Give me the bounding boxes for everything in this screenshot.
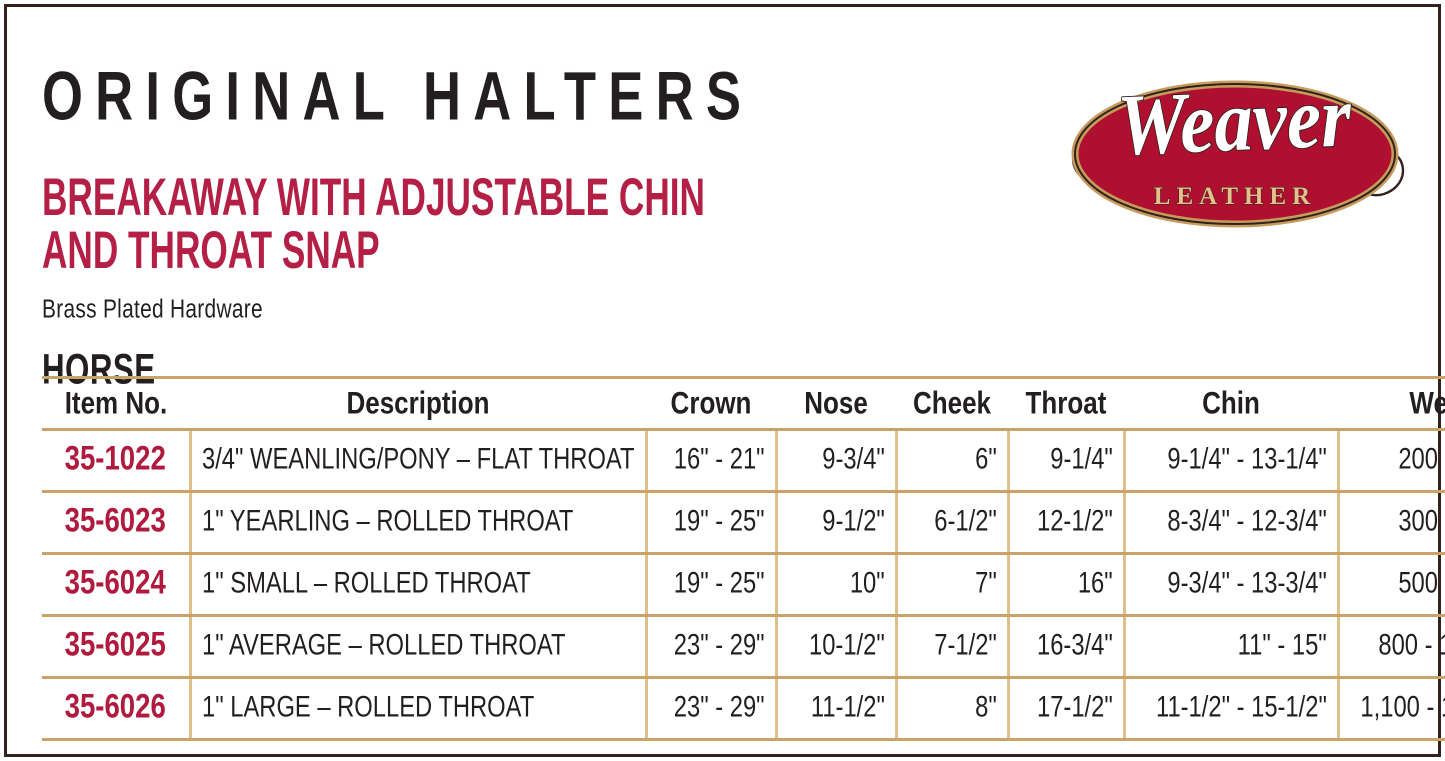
crown-text: 19" - 25": [674, 566, 765, 600]
cell-crown: 23" - 29": [646, 616, 776, 678]
cheek-text: 6-1/2": [934, 504, 997, 538]
cell-item-no: 35-6023: [42, 492, 190, 554]
page-subtitle-line-2: AND THROAT SNAP: [42, 225, 816, 277]
item-no-text: 35-6023: [65, 502, 166, 541]
column-header-description: Description: [190, 372, 646, 434]
cell-nose: 9-1/2": [776, 492, 896, 554]
chin-text: 9-3/4" - 13-3/4": [1167, 566, 1326, 600]
cell-cheek: 6": [896, 430, 1008, 492]
chin-text: 11-1/2" - 15-1/2": [1156, 690, 1327, 724]
cell-description: 3/4" WEANLING/PONY – FLAT THROAT: [190, 430, 646, 492]
description-text: 3/4" WEANLING/PONY – FLAT THROAT: [202, 442, 635, 476]
item-no-text: 35-6024: [65, 564, 166, 603]
column-header-crown: Crown: [646, 372, 776, 434]
cell-weight: 200 - 300 LBS.: [1338, 430, 1445, 492]
column-header-weight: Weight: [1338, 372, 1445, 434]
cheek-text: 8": [975, 690, 997, 724]
throat-text: 17-1/2": [1037, 690, 1113, 724]
cell-description: 1" LARGE – ROLLED THROAT: [190, 678, 646, 740]
nose-text: 9-1/2": [822, 504, 885, 538]
cell-crown: 19" - 25": [646, 554, 776, 616]
table-row: 35-6023 1" YEARLING – ROLLED THROAT 19" …: [42, 492, 1445, 554]
halter-spec-table: Item No. Description Crown Nose Cheek Th…: [42, 376, 1445, 741]
column-header-throat: Throat: [1008, 372, 1124, 434]
cell-chin: 9-3/4" - 13-3/4": [1124, 554, 1338, 616]
table-header-row: Item No. Description Crown Nose Cheek Th…: [42, 378, 1445, 430]
column-header-nose: Nose: [776, 372, 896, 434]
cell-item-no: 35-1022: [42, 430, 190, 492]
nose-text: 10": [850, 566, 885, 600]
cell-throat: 16": [1008, 554, 1124, 616]
cell-cheek: 6-1/2": [896, 492, 1008, 554]
crown-text: 19" - 25": [674, 504, 765, 538]
cell-crown: 23" - 29": [646, 678, 776, 740]
cell-nose: 9-3/4": [776, 430, 896, 492]
cell-nose: 10-1/2": [776, 616, 896, 678]
cheek-text: 7": [975, 566, 997, 600]
cell-cheek: 7": [896, 554, 1008, 616]
cell-chin: 8-3/4" - 12-3/4": [1124, 492, 1338, 554]
throat-text: 16-3/4": [1037, 628, 1113, 662]
cell-item-no: 35-6025: [42, 616, 190, 678]
cell-item-no: 35-6024: [42, 554, 190, 616]
page-subtitle: BREAKAWAY WITH ADJUSTABLE CHIN AND THROA…: [42, 173, 816, 278]
throat-text: 12-1/2": [1037, 504, 1113, 538]
column-header-cheek: Cheek: [896, 372, 1008, 434]
cell-cheek: 8": [896, 678, 1008, 740]
hardware-note: Brass Plated Hardware: [42, 294, 1339, 325]
table-row: 35-6025 1" AVERAGE – ROLLED THROAT 23" -…: [42, 616, 1445, 678]
weight-text: 500 - 800 LBS.: [1399, 566, 1445, 600]
cell-cheek: 7-1/2": [896, 616, 1008, 678]
item-no-text: 35-6026: [65, 688, 166, 727]
nose-text: 9-3/4": [822, 442, 885, 476]
cell-description: 1" AVERAGE – ROLLED THROAT: [190, 616, 646, 678]
cell-chin: 11" - 15": [1124, 616, 1338, 678]
crown-text: 16" - 21": [674, 442, 765, 476]
cell-weight: 500 - 800 LBS.: [1338, 554, 1445, 616]
cell-throat: 16-3/4": [1008, 616, 1124, 678]
column-header-chin: Chin: [1124, 372, 1338, 434]
cell-nose: 11-1/2": [776, 678, 896, 740]
cell-crown: 19" - 25": [646, 492, 776, 554]
item-no-text: 35-6025: [65, 626, 166, 665]
chin-text: 11" - 15": [1237, 628, 1326, 662]
cell-item-no: 35-6026: [42, 678, 190, 740]
cell-chin: 11-1/2" - 15-1/2": [1124, 678, 1338, 740]
cheek-text: 7-1/2": [934, 628, 997, 662]
description-text: 1" AVERAGE – ROLLED THROAT: [202, 628, 565, 662]
throat-text: 16": [1078, 566, 1113, 600]
cell-description: 1" SMALL – ROLLED THROAT: [190, 554, 646, 616]
table-body: 35-1022 3/4" WEANLING/PONY – FLAT THROAT…: [42, 430, 1445, 740]
cell-throat: 17-1/2": [1008, 678, 1124, 740]
cell-weight: 1,100 - 1,600 LBS.: [1338, 678, 1445, 740]
cell-throat: 12-1/2": [1008, 492, 1124, 554]
weaver-leather-logo: Weaver LEATHER: [1058, 70, 1413, 238]
cheek-text: 6": [975, 442, 997, 476]
nose-text: 11-1/2": [810, 690, 884, 724]
cell-description: 1" YEARLING – ROLLED THROAT: [190, 492, 646, 554]
description-text: 1" LARGE – ROLLED THROAT: [202, 690, 534, 724]
cell-weight: 300 - 500 LBS.: [1338, 492, 1445, 554]
logo-tagline-text: LEATHER: [1154, 183, 1316, 210]
weight-text: 200 - 300 LBS.: [1399, 442, 1445, 476]
cell-nose: 10": [776, 554, 896, 616]
page-subtitle-line-1: BREAKAWAY WITH ADJUSTABLE CHIN: [42, 173, 816, 225]
header-block: ORIGINAL HALTERS BREAKAWAY WITH ADJUSTAB…: [40, 62, 1407, 362]
weight-text: 300 - 500 LBS.: [1399, 504, 1445, 538]
description-text: 1" YEARLING – ROLLED THROAT: [202, 504, 573, 538]
crown-text: 23" - 29": [674, 690, 765, 724]
column-header-item-no: Item No.: [42, 372, 190, 434]
page-content: ORIGINAL HALTERS BREAKAWAY WITH ADJUSTAB…: [40, 20, 1407, 737]
weight-text: 1,100 - 1,600 LBS.: [1360, 690, 1445, 724]
cell-chin: 9-1/4" - 13-1/4": [1124, 430, 1338, 492]
description-text: 1" SMALL – ROLLED THROAT: [202, 566, 531, 600]
chin-text: 9-1/4" - 13-1/4": [1167, 442, 1326, 476]
chin-text: 8-3/4" - 12-3/4": [1167, 504, 1326, 538]
throat-text: 9-1/4": [1050, 442, 1113, 476]
table-row: 35-1022 3/4" WEANLING/PONY – FLAT THROAT…: [42, 430, 1445, 492]
crown-text: 23" - 29": [674, 628, 765, 662]
cell-throat: 9-1/4": [1008, 430, 1124, 492]
cell-weight: 800 - 1,100 LBS.: [1338, 616, 1445, 678]
spec-sheet-page: ORIGINAL HALTERS BREAKAWAY WITH ADJUSTAB…: [0, 0, 1445, 761]
table-header: Item No. Description Crown Nose Cheek Th…: [42, 378, 1445, 430]
logo-brand-text: Weaver: [1116, 70, 1353, 174]
weight-text: 800 - 1,100 LBS.: [1379, 628, 1445, 662]
item-no-text: 35-1022: [65, 440, 166, 479]
table-row: 35-6024 1" SMALL – ROLLED THROAT 19" - 2…: [42, 554, 1445, 616]
table-row: 35-6026 1" LARGE – ROLLED THROAT 23" - 2…: [42, 678, 1445, 740]
cell-crown: 16" - 21": [646, 430, 776, 492]
nose-text: 10-1/2": [809, 628, 885, 662]
